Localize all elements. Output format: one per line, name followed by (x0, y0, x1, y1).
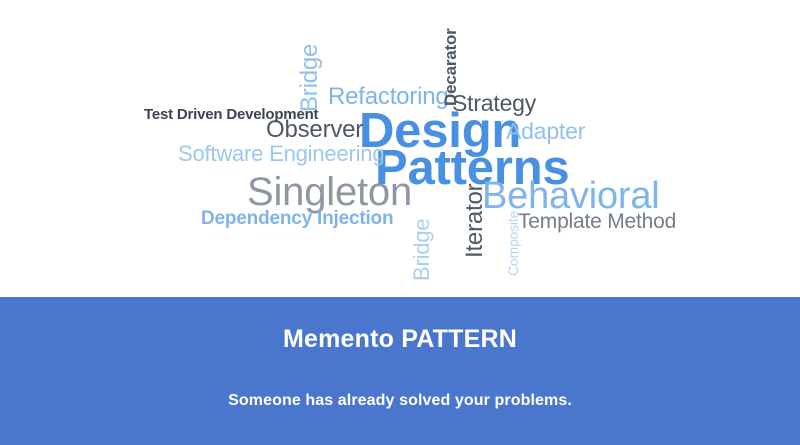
cloud-word: Strategy (452, 92, 536, 115)
slide-root: DesignPatternsBehavioralSingletonSoftwar… (0, 0, 800, 445)
cloud-word: Template Method (518, 211, 676, 232)
cloud-word: Bridge (298, 44, 322, 112)
title-banner: Memento PATTERN Someone has already solv… (0, 297, 800, 445)
cloud-word: Composite (506, 211, 520, 276)
banner-subtitle: Someone has already solved your problems… (0, 392, 800, 410)
cloud-word: Software Engineering (178, 143, 384, 165)
cloud-word: Adapter (506, 120, 585, 143)
cloud-word: Refactoring (328, 85, 449, 109)
banner-title: Memento PATTERN (0, 325, 800, 354)
cloud-word: Test Driven Development (144, 107, 318, 122)
cloud-word: Bridge (411, 219, 433, 281)
cloud-word: Decarator (442, 28, 459, 106)
cloud-word: Dependency Injection (201, 209, 393, 228)
cloud-word: Singleton (247, 172, 412, 212)
word-cloud: DesignPatternsBehavioralSingletonSoftwar… (0, 0, 800, 297)
cloud-word: Iterator (463, 184, 487, 258)
